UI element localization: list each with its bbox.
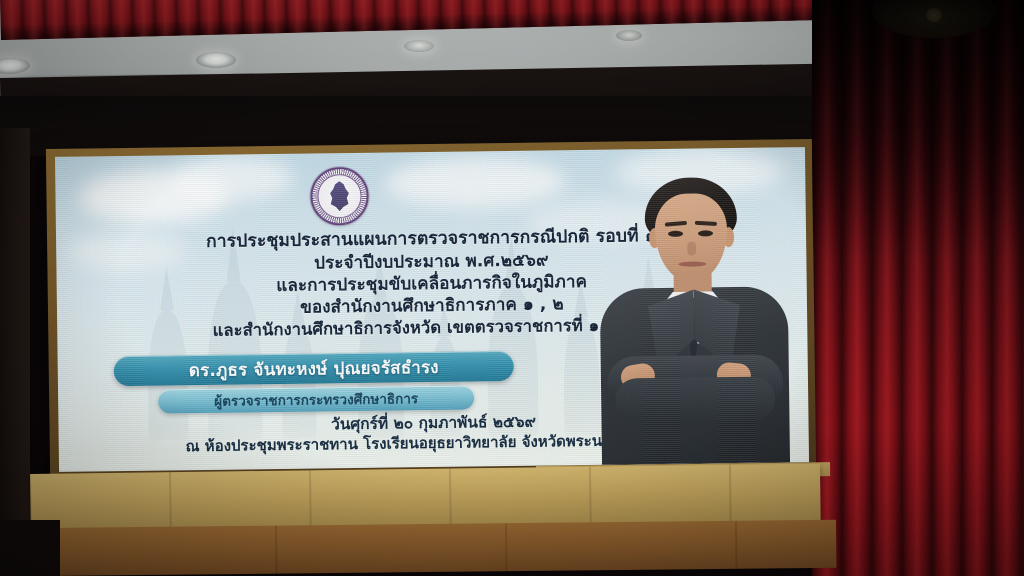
led-screen: การประชุมประสานแผนการตรวจราชการกรณีปกติ … bbox=[55, 147, 809, 472]
speaker-name-banner: ดร.ภูธร จันทะหงษ์ ปุณยจรัสธำรง bbox=[114, 351, 514, 386]
speaker-portrait bbox=[588, 170, 797, 465]
face bbox=[655, 193, 728, 282]
led-screen-frame: การประชุมประสานแผนการตรวจราชการกรณีปกติ … bbox=[46, 139, 816, 479]
ceiling-downlight-icon bbox=[196, 52, 236, 68]
left-wall-post bbox=[0, 128, 30, 576]
speaker-role-banner: ผู้ตรวจราชการกระทรวงศึกษาธิการ bbox=[158, 385, 474, 413]
auditorium-scene: การประชุมประสานแผนการตรวจราชการกรณีปกติ … bbox=[0, 0, 1024, 576]
ceiling-downlight-icon bbox=[404, 40, 434, 52]
speaker-role: ผู้ตรวจราชการกระทรวงศึกษาธิการ bbox=[214, 387, 418, 412]
crossed-arms-lower bbox=[615, 377, 776, 423]
stage-panel-wood bbox=[46, 520, 836, 576]
ceiling-downlight-icon bbox=[616, 30, 642, 41]
floor-shadow bbox=[0, 520, 60, 576]
speaker-name: ดร.ภูธร จันทะหงษ์ ปุณยจรัสธำรง bbox=[189, 353, 439, 383]
nose bbox=[687, 242, 696, 256]
ministry-seal-icon bbox=[310, 167, 369, 226]
stage-curtain-right bbox=[812, 0, 1024, 576]
